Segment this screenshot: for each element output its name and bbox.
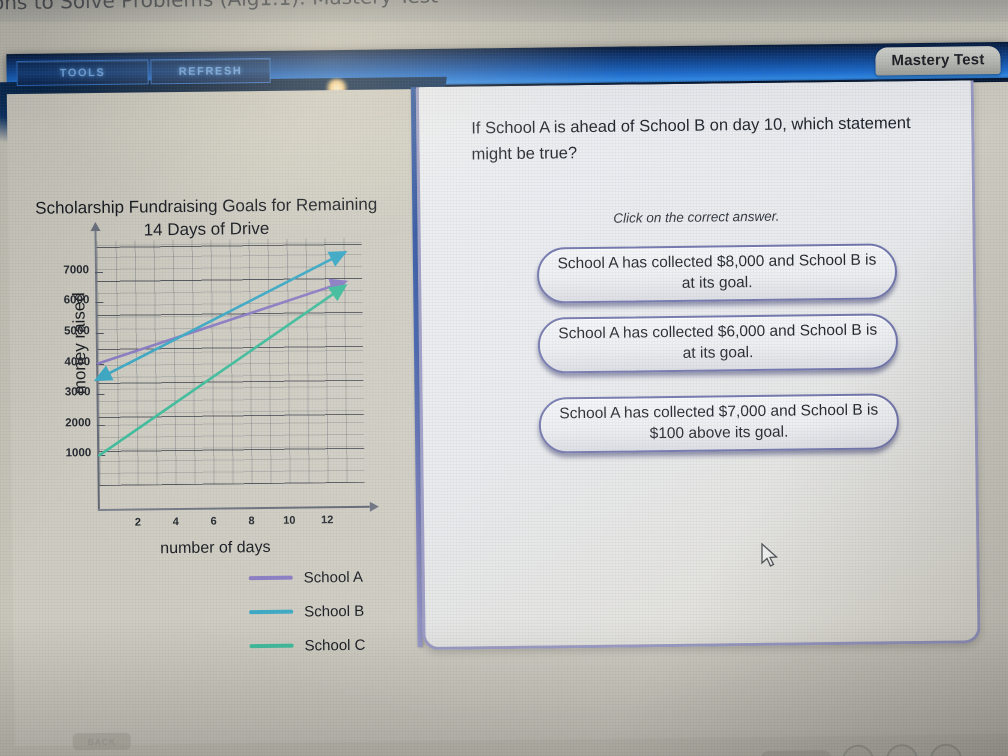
- back-button[interactable]: BACK: [73, 733, 131, 751]
- next-button[interactable]: NEXT: [760, 750, 832, 756]
- mastery-test-badge: Mastery Test: [875, 46, 1000, 76]
- bookmark-icon[interactable]: [886, 744, 918, 756]
- legend-swatch: [249, 576, 293, 581]
- content-area: Scholarship Fundraising Goals for Remain…: [7, 82, 1008, 746]
- chart-line-school-c: [97, 287, 345, 455]
- browser-title-bar: ons to Solve Problems (Alg1.1): Mastery …: [0, 0, 1008, 22]
- chart-y-axis-label: money raised: [69, 263, 91, 423]
- legend-label: School B: [304, 602, 364, 620]
- chart-x-tick-8: 8: [241, 515, 261, 527]
- chart-panel: Scholarship Fundraising Goals for Remain…: [7, 89, 418, 694]
- chart-y-tick-4000: 4000: [44, 356, 90, 369]
- test-application: TOOLS REFRESH Mastery Test Scholarship F…: [6, 18, 1008, 746]
- chart-plot-area: [97, 238, 365, 486]
- legend-item-school-b: School B: [249, 594, 365, 629]
- refresh-button[interactable]: REFRESH: [150, 58, 270, 84]
- click-instruction: Click on the correct answer.: [420, 206, 972, 228]
- question-card: If School A is ahead of School B on day …: [416, 80, 981, 650]
- chart-x-axis: [98, 506, 370, 511]
- tools-button[interactable]: TOOLS: [16, 59, 148, 86]
- chart-title: Scholarship Fundraising Goals for Remain…: [26, 193, 387, 243]
- chart-x-tick-12: 12: [317, 514, 337, 526]
- chart-x-tick-10: 10: [279, 515, 299, 527]
- answer-choice-1[interactable]: School A has collected $8,000 and School…: [537, 243, 898, 303]
- chart-x-tick-6: 6: [204, 515, 224, 527]
- chart-y-tick-5000: 5000: [44, 325, 90, 338]
- help-icon[interactable]: [842, 745, 874, 756]
- chart-y-tick-3000: 3000: [44, 386, 90, 399]
- legend-swatch: [249, 610, 293, 615]
- browser-title-text: ons to Solve Problems (Alg1.1): Mastery …: [0, 0, 438, 15]
- legend-label: School C: [304, 636, 365, 654]
- chart-x-tick-4: 4: [166, 516, 186, 528]
- answer-choice-2[interactable]: School A has collected $6,000 and School…: [538, 313, 899, 373]
- chart-y-tick-2000: 2000: [45, 417, 91, 430]
- legend-label: School A: [304, 568, 363, 586]
- chart-x-tick-2: 2: [128, 516, 148, 528]
- chart-y-tick-7000: 7000: [43, 264, 89, 277]
- legend-item-school-c: School C: [249, 628, 365, 663]
- chart-y-tick-6000: 6000: [43, 294, 89, 307]
- chart-legend: School ASchool BSchool C: [249, 560, 366, 663]
- photographed-screen: ons to Solve Problems (Alg1.1): Mastery …: [0, 0, 1008, 756]
- chart-series-lines: [97, 238, 365, 486]
- flag-icon[interactable]: [930, 743, 962, 756]
- legend-item-school-a: School A: [249, 560, 365, 595]
- chart-line-school-a: [97, 282, 344, 363]
- mouse-cursor: [760, 543, 782, 571]
- legend-swatch: [250, 644, 294, 649]
- chart-y-tick-1000: 1000: [45, 447, 91, 460]
- question-prompt: If School A is ahead of School B on day …: [471, 111, 912, 167]
- answer-choice-3[interactable]: School A has collected $7,000 and School…: [539, 393, 900, 453]
- chart-x-axis-label: number of days: [100, 538, 330, 559]
- chart-line-school-b: [97, 253, 345, 378]
